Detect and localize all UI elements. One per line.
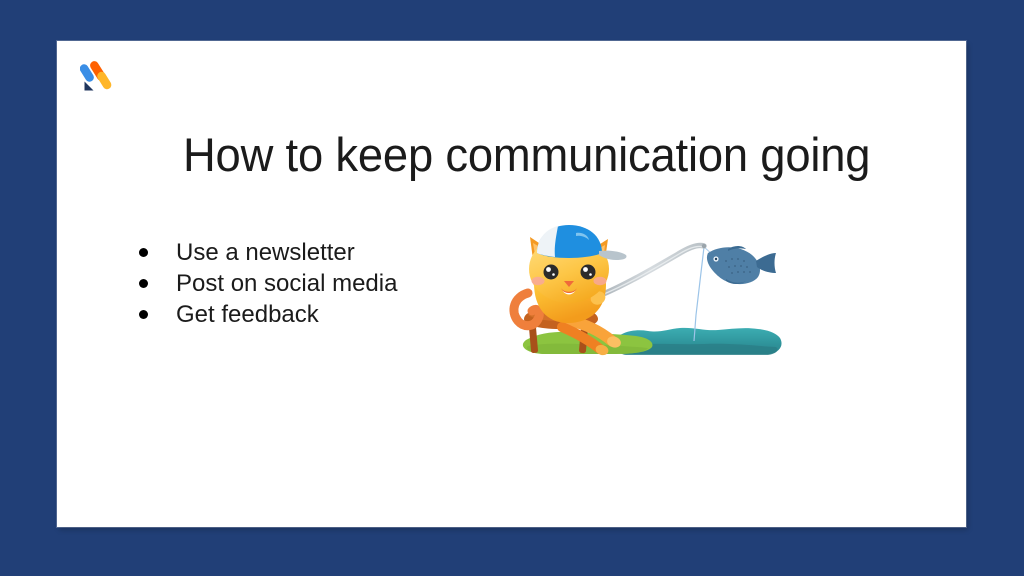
cat-fishing-illustration [504, 215, 794, 365]
presentation-slide: How to keep communication going Use a ne… [57, 41, 966, 527]
page-title: How to keep communication going [183, 127, 859, 183]
slide-backdrop: How to keep communication going Use a ne… [0, 0, 1024, 576]
fish-body [707, 247, 760, 284]
cat-cheek-left [532, 277, 545, 285]
bullet-dot-icon [139, 248, 148, 257]
list-item-label: Use a newsletter [176, 237, 355, 268]
list-item: Get feedback [139, 299, 397, 330]
list-item: Use a newsletter [139, 237, 397, 268]
jotform-logo[interactable] [80, 58, 116, 96]
cat-eye-left [544, 265, 559, 280]
list-item: Post on social media [139, 268, 397, 299]
cat-cheek-right [594, 277, 607, 285]
bullet-dot-icon [139, 279, 148, 288]
jumping-fish [707, 246, 776, 284]
bullet-dot-icon [139, 310, 148, 319]
logo-triangle-navy [85, 82, 94, 91]
list-item-label: Post on social media [176, 268, 397, 299]
cat-cap [537, 225, 627, 260]
list-item-label: Get feedback [176, 299, 319, 330]
bullet-list: Use a newsletter Post on social media Ge… [139, 237, 397, 330]
cat-eye-right [581, 265, 596, 280]
logo-bars [80, 60, 113, 91]
